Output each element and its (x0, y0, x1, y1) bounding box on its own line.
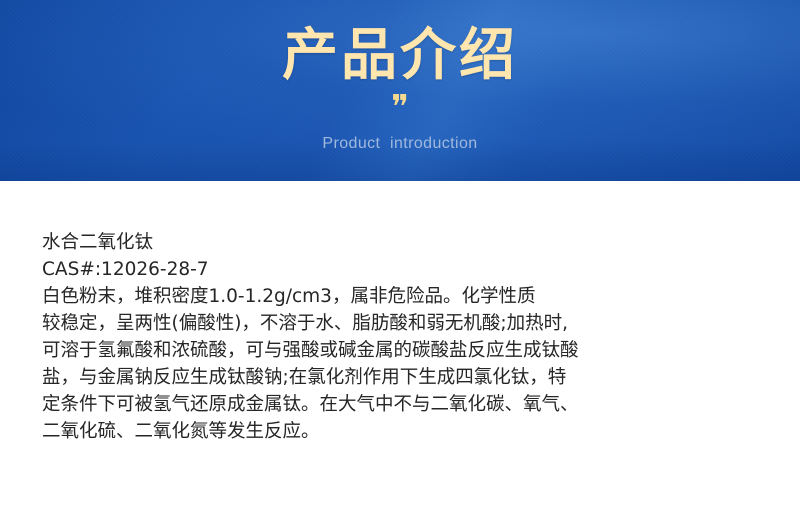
product-description-section: 水合二氧化钛 CAS#:12026-28-7 白色粉末，堆积密度1.0-1.2g… (0, 181, 800, 445)
description-line: 较稳定，呈两性(偏酸性)，不溶于水、脂肪酸和弱无机酸;加热时, (42, 310, 800, 337)
description-line: 二氧化硫、二氧化氮等发生反应。 (42, 418, 800, 445)
banner-content: 产品介绍 ❞ Product introduction (0, 0, 800, 181)
cas-number: CAS#:12026-28-7 (42, 256, 800, 283)
description-line: 可溶于氢氟酸和浓硫酸，可与强酸或碱金属的碳酸盐反应生成钛酸 (42, 337, 800, 364)
description-line: 定条件下可被氢气还原成金属钛。在大气中不与二氧化碳、氧气、 (42, 391, 800, 418)
product-introduction-banner: 产品介绍 ❞ Product introduction (0, 0, 800, 181)
quote-mark-icon: ❞ (391, 94, 409, 120)
banner-subtitle: Product introduction (322, 134, 477, 154)
description-line: 白色粉末，堆积密度1.0-1.2g/cm3，属非危险品。化学性质 (42, 283, 800, 310)
product-name: 水合二氧化钛 (42, 229, 800, 256)
banner-title: 产品介绍 (282, 22, 518, 88)
description-line: 盐，与金属钠反应生成钛酸钠;在氯化剂作用下生成四氯化钛，特 (42, 364, 800, 391)
